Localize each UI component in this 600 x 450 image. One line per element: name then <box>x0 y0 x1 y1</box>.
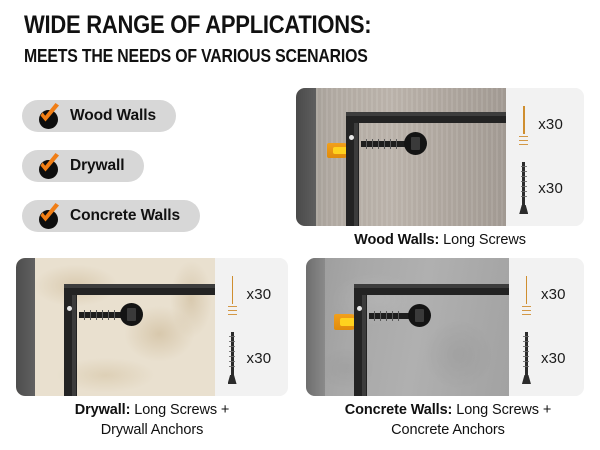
caption-bold: Concrete Walls: <box>345 402 453 418</box>
screw-icon <box>518 162 529 214</box>
screw-icon <box>521 332 532 384</box>
pill-label: Wood Walls <box>70 107 156 125</box>
screw-icon <box>227 332 238 384</box>
panel-wood-walls[interactable]: x30 x30 <box>296 88 584 226</box>
page-subtitle: MEETS THE NEEDS OF VARIOUS SCENARIOS <box>24 47 517 66</box>
part-row-anchor: x30 <box>521 270 566 318</box>
wood-wall-photo <box>296 88 506 226</box>
wall-anchor-icon <box>521 270 532 318</box>
parts-list-concrete: x30 x30 <box>509 258 584 396</box>
page-title: WIDE RANGE OF APPLICATIONS: <box>24 12 517 38</box>
concrete-wall-photo <box>306 258 509 396</box>
caption-bold: Drywall: <box>75 402 131 418</box>
part-row-screw: x30 <box>518 162 563 214</box>
panel-drywall[interactable]: x30 x30 <box>16 258 288 396</box>
wall-anchor-icon <box>518 100 529 148</box>
pill-wood-walls[interactable]: Wood Walls <box>22 100 176 132</box>
wall-anchor-icon <box>227 270 238 318</box>
part-row-anchor: x30 <box>227 270 272 318</box>
application-pill-list: Wood Walls Drywall Concrete Walls <box>22 100 200 250</box>
check-badge-icon <box>34 151 64 181</box>
part-qty: x30 <box>538 180 563 197</box>
caption-rest: Long Screws <box>439 232 526 248</box>
part-row-screw: x30 <box>521 332 566 384</box>
drywall-photo <box>16 258 215 396</box>
caption-drywall: Drywall: Long Screws + Drywall Anchors <box>6 401 298 440</box>
caption-line2: Drywall Anchors <box>101 422 203 438</box>
caption-concrete-walls: Concrete Walls: Long Screws + Concrete A… <box>300 401 596 440</box>
pill-drywall[interactable]: Drywall <box>22 150 144 182</box>
parts-list-wood: x30 x30 <box>506 88 584 226</box>
part-qty: x30 <box>538 116 563 133</box>
check-badge-icon <box>34 201 64 231</box>
part-row-screw: x30 <box>227 332 272 384</box>
part-qty: x30 <box>541 286 566 303</box>
check-badge-icon <box>34 101 64 131</box>
header: WIDE RANGE OF APPLICATIONS: MEETS THE NE… <box>24 12 584 66</box>
pill-concrete-walls[interactable]: Concrete Walls <box>22 200 200 232</box>
caption-rest: Long Screws + <box>452 402 551 418</box>
caption-rest: Long Screws + <box>130 402 229 418</box>
parts-list-drywall: x30 x30 <box>215 258 288 396</box>
caption-line2: Concrete Anchors <box>391 422 505 438</box>
part-qty: x30 <box>541 350 566 367</box>
caption-bold: Wood Walls: <box>354 232 439 248</box>
panel-concrete-walls[interactable]: x30 x30 <box>306 258 584 396</box>
part-row-anchor: x30 <box>518 100 563 148</box>
part-qty: x30 <box>247 286 272 303</box>
caption-wood-walls: Wood Walls: Long Screws <box>296 231 584 251</box>
part-qty: x30 <box>247 350 272 367</box>
pill-label: Concrete Walls <box>70 207 180 225</box>
pill-label: Drywall <box>70 157 124 175</box>
